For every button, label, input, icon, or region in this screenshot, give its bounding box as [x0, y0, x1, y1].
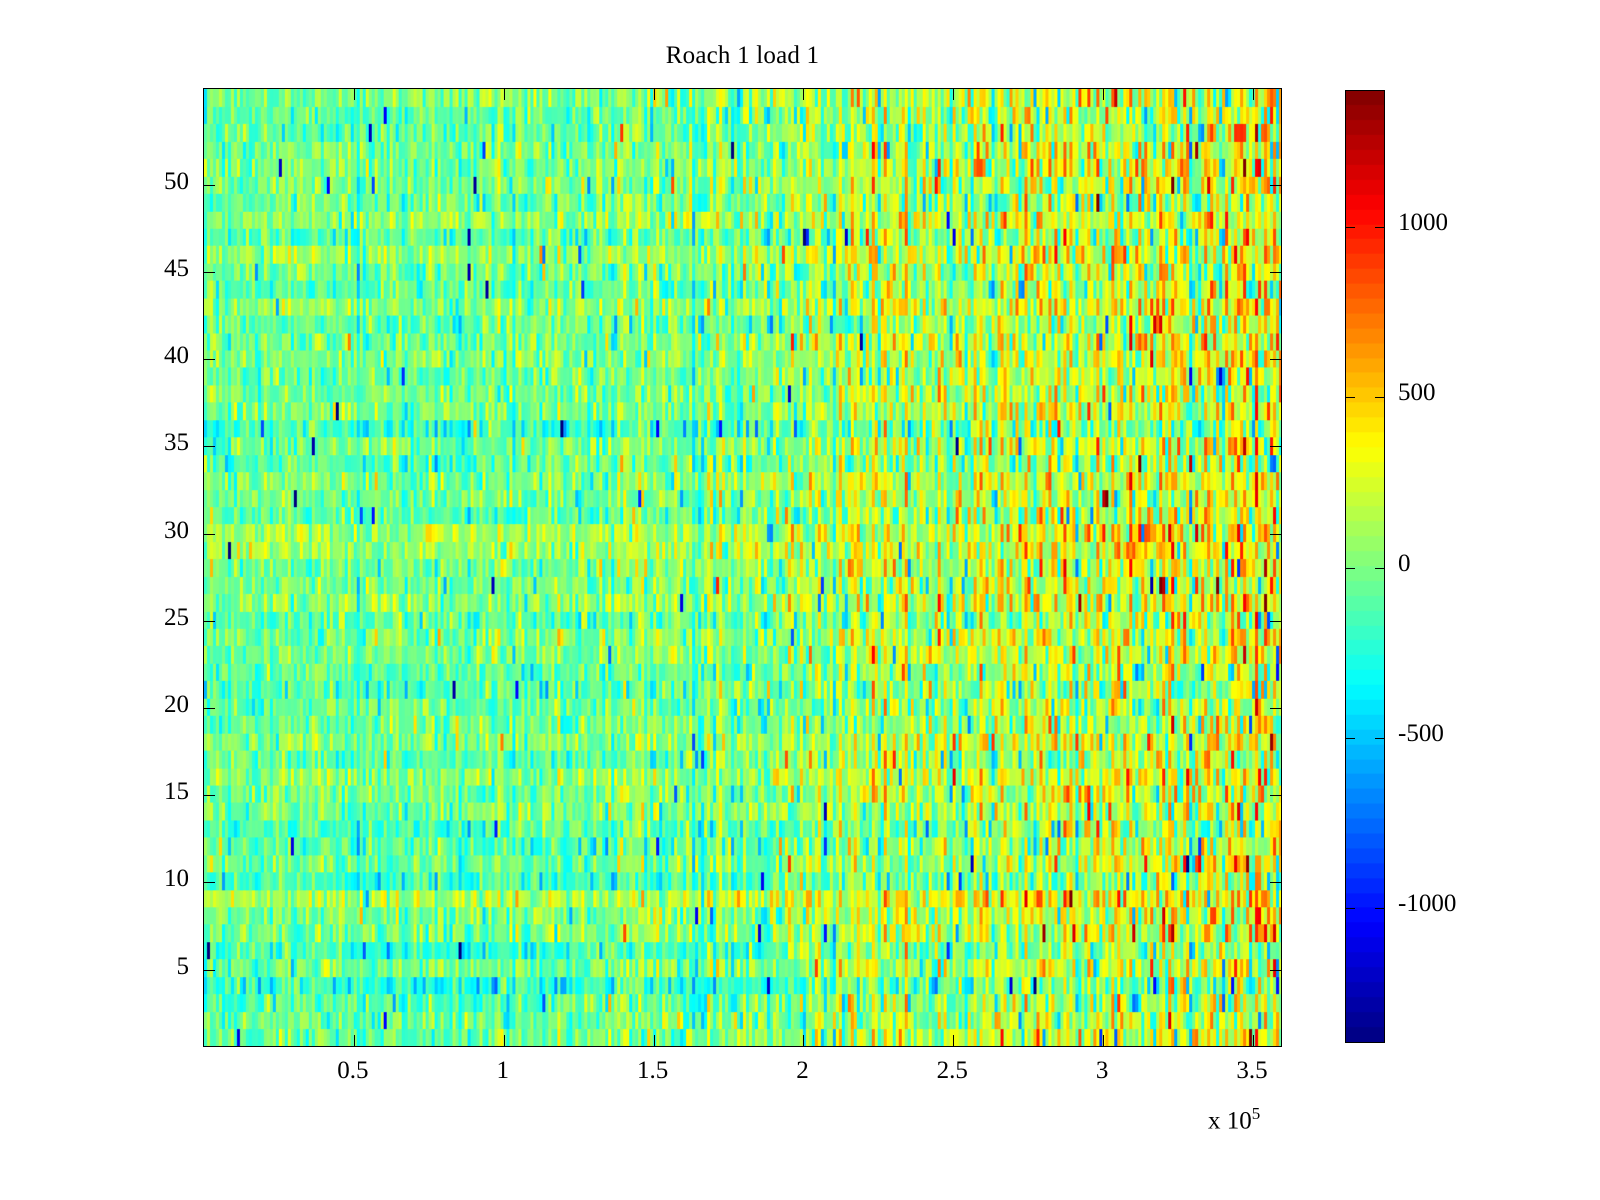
y-tick-label: 15: [119, 778, 189, 806]
colorbar[interactable]: [1345, 90, 1385, 1043]
colorbar-tick-mark-right: [1375, 397, 1384, 398]
x-tick-mark-top: [504, 89, 505, 100]
y-tick-mark-left: [204, 795, 215, 796]
colorbar-tick-mark-left: [1346, 568, 1355, 569]
y-tick-mark-right: [1270, 185, 1281, 186]
y-tick-label: 5: [119, 953, 189, 981]
x-tick-label: 2: [742, 1057, 862, 1085]
colorbar-tick-mark-left: [1346, 738, 1355, 739]
y-tick-mark-left: [204, 708, 215, 709]
y-tick-mark-right: [1270, 970, 1281, 971]
x-tick-mark-bottom: [504, 1035, 505, 1046]
colorbar-tick-mark-left: [1346, 908, 1355, 909]
y-tick-mark-left: [204, 621, 215, 622]
colorbar-tick-mark-right: [1375, 227, 1384, 228]
x-axis-exponent: x 105: [1208, 1104, 1260, 1135]
y-tick-mark-right: [1270, 534, 1281, 535]
x-tick-mark-bottom: [354, 1035, 355, 1046]
colorbar-tick-label: -1000: [1398, 890, 1456, 918]
x-tick-mark-bottom: [654, 1035, 655, 1046]
y-tick-mark-right: [1270, 446, 1281, 447]
x-tick-mark-bottom: [1253, 1035, 1254, 1046]
y-tick-label: 50: [119, 168, 189, 196]
x-tick-label: 1.5: [593, 1057, 713, 1085]
colorbar-tick-mark-right: [1375, 738, 1384, 739]
x-tick-mark-top: [1253, 89, 1254, 100]
x-tick-label: 3: [1042, 1057, 1162, 1085]
x-tick-mark-top: [1103, 89, 1104, 100]
y-tick-label: 30: [119, 517, 189, 545]
colorbar-tick-label: 1000: [1398, 209, 1448, 237]
y-tick-mark-left: [204, 185, 215, 186]
x-tick-label: 1: [443, 1057, 563, 1085]
colorbar-tick-mark-left: [1346, 397, 1355, 398]
y-tick-mark-right: [1270, 621, 1281, 622]
heatmap-image: [204, 89, 1281, 1046]
y-tick-mark-right: [1270, 359, 1281, 360]
x-exponent-power: 5: [1252, 1104, 1261, 1123]
colorbar-tick-mark-right: [1375, 908, 1384, 909]
x-exponent-base: x 10: [1208, 1107, 1252, 1134]
x-tick-label: 3.5: [1192, 1057, 1312, 1085]
x-tick-mark-top: [953, 89, 954, 100]
y-tick-mark-left: [204, 359, 215, 360]
x-tick-mark-top: [354, 89, 355, 100]
y-tick-label: 40: [119, 342, 189, 370]
matlab-figure: Roach 1 load 1 0.511.522.533.55101520253…: [0, 0, 1600, 1200]
heatmap-axes[interactable]: [203, 88, 1282, 1047]
colorbar-tick-mark-right: [1375, 568, 1384, 569]
colorbar-tick-label: 500: [1398, 379, 1436, 407]
colorbar-gradient: [1346, 91, 1384, 1042]
y-tick-mark-left: [204, 534, 215, 535]
y-tick-mark-right: [1270, 882, 1281, 883]
x-tick-mark-top: [654, 89, 655, 100]
y-tick-label: 20: [119, 691, 189, 719]
x-tick-mark-bottom: [953, 1035, 954, 1046]
y-tick-label: 45: [119, 255, 189, 283]
colorbar-tick-label: -500: [1398, 720, 1444, 748]
page-title: Roach 1 load 1: [203, 42, 1282, 70]
colorbar-tick-label: 0: [1398, 550, 1411, 578]
y-tick-mark-right: [1270, 708, 1281, 709]
x-tick-mark-top: [803, 89, 804, 100]
y-tick-label: 10: [119, 865, 189, 893]
x-tick-label: 0.5: [293, 1057, 413, 1085]
y-tick-mark-left: [204, 272, 215, 273]
x-tick-label: 2.5: [892, 1057, 1012, 1085]
x-tick-mark-bottom: [1103, 1035, 1104, 1046]
y-tick-label: 25: [119, 604, 189, 632]
y-tick-mark-right: [1270, 795, 1281, 796]
y-tick-mark-left: [204, 970, 215, 971]
x-tick-mark-bottom: [803, 1035, 804, 1046]
y-tick-mark-right: [1270, 272, 1281, 273]
colorbar-tick-mark-left: [1346, 227, 1355, 228]
y-tick-mark-left: [204, 446, 215, 447]
y-tick-label: 35: [119, 429, 189, 457]
y-tick-mark-left: [204, 882, 215, 883]
